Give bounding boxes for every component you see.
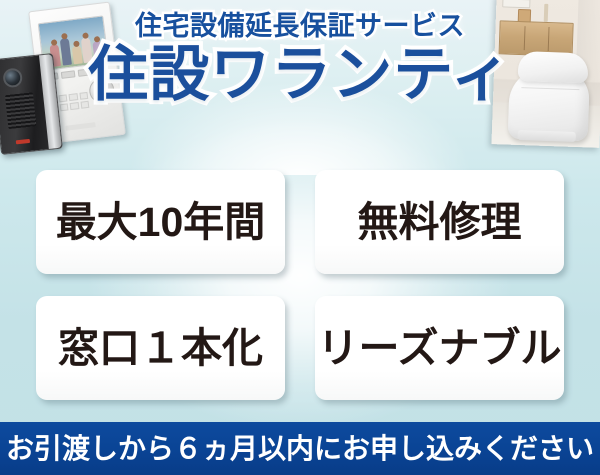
feature-card-label: 最大10年間 [56,202,266,243]
footer-bar: お引渡しから６ヵ月以内にお申し込みください [0,422,600,475]
keypad-key [59,103,68,111]
intercom-button [93,66,107,75]
feature-card-grid: 最大10年間 無料修理 窓口１本化 リーズナブル [36,170,564,400]
feature-card-label: 窓口１本化 [58,328,263,369]
footer-text: お引渡しから６ヵ月以内にお申し込みください [6,435,594,463]
feature-card-label: 無料修理 [358,202,522,243]
camera-lens-icon [2,67,23,88]
toilet-photo [491,0,600,148]
feature-card-free-repair: 無料修理 [315,170,564,274]
call-button [16,139,30,144]
screen-figure [92,41,103,62]
feature-card-reasonable: リーズナブル [315,296,564,400]
promo-banner: 住宅設備延長保証サービス 住設ワランティ 最大10年間 無料修理 窓口１本化 リ… [0,0,600,475]
cabinet-seam [524,26,526,50]
feature-card-label: リーズナブル [318,328,562,369]
keypad-key [69,93,78,101]
toilet-seam [521,87,579,90]
cabinet-seam [548,27,550,51]
intercom-outdoor-unit [0,53,63,155]
wall-vent [502,0,530,8]
keypad-key [80,101,89,109]
intercom-button [61,70,75,79]
screen-figure [81,37,93,63]
keypad-key [70,102,79,110]
toilet-base [518,130,576,142]
intercom-button [77,68,91,77]
toilet-body [508,67,590,142]
intercom-dial [88,77,116,105]
keypad-key [79,92,88,100]
speaker-grille [5,92,36,129]
toilet-lid [518,51,589,83]
intercom-brand-plate [65,122,95,131]
feature-card-single-contact: 窓口１本化 [36,296,285,400]
wall-decor-reed [544,4,549,22]
keypad-key [58,94,67,102]
screen-figure [60,38,72,66]
feature-card-max-years: 最大10年間 [36,170,285,274]
intercom-photo [0,2,144,148]
